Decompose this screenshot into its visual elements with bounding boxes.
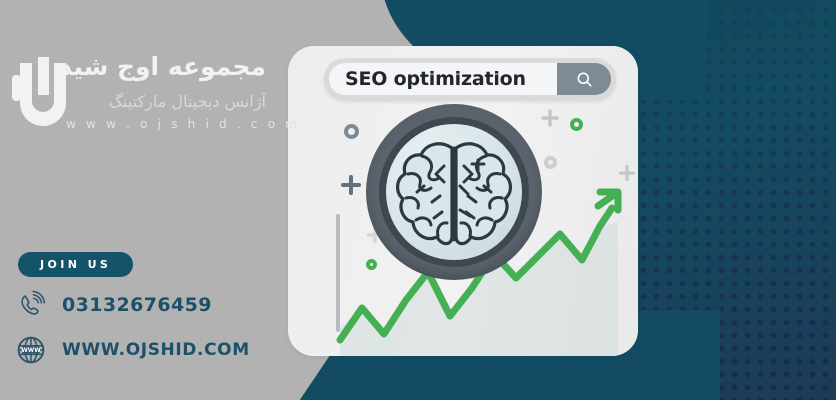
deco-ring-green-right-icon	[570, 118, 583, 131]
brain-icon	[386, 124, 522, 260]
magnifier	[366, 104, 542, 280]
brand-panel: مجموعه اوج شید آژانس دیجیتال مارکتینگ w …	[0, 0, 288, 400]
search-icon	[575, 70, 594, 89]
brand-subtitle: آژانس دیجیتال مارکتینگ	[66, 92, 266, 111]
phone-icon	[14, 288, 48, 322]
deco-ring-gray-right-icon	[544, 156, 557, 169]
phone-number: 03132676459	[62, 294, 212, 316]
join-us-button[interactable]: JOIN US	[18, 252, 133, 277]
deco-ring-icon	[344, 124, 359, 139]
arrow-up-right-icon	[598, 192, 618, 210]
contact-website[interactable]: WWW WWW.OJSHID.COM	[14, 333, 250, 367]
globe-icon: WWW	[14, 333, 48, 367]
deco-plus-right-icon	[540, 108, 560, 128]
search-bar[interactable]: SEO optimization	[324, 58, 616, 100]
deco-plus-far-right-icon	[618, 164, 636, 182]
magnifier-lens	[386, 124, 522, 260]
banner-canvas: SEO optimization مجموعه اوج شید آژانس دی…	[0, 0, 836, 400]
brand-url: w w w . o j s h i d . c o m	[66, 117, 266, 131]
brand-title: مجموعه اوج شید	[66, 54, 266, 80]
chart-vertical-axis	[336, 214, 340, 332]
svg-text:WWW: WWW	[21, 348, 41, 354]
search-input[interactable]: SEO optimization	[329, 63, 557, 95]
deco-plus-icon	[340, 174, 362, 196]
seo-illustration-card: SEO optimization	[288, 46, 638, 356]
search-query-text: SEO optimization	[345, 68, 526, 90]
website-url: WWW.OJSHID.COM	[62, 340, 250, 360]
search-button[interactable]	[557, 63, 611, 95]
contact-phone[interactable]: 03132676459	[14, 288, 212, 322]
